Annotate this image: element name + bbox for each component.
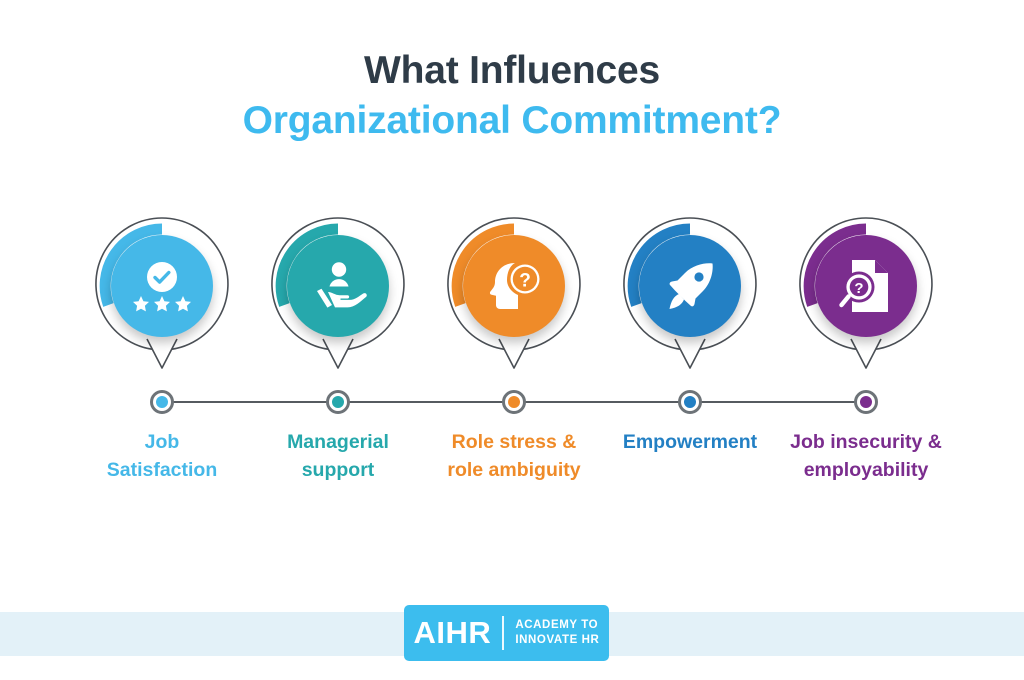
title-line-1: What Influences bbox=[0, 46, 1024, 96]
aihr-logo[interactable]: AIHR ACADEMY TO INNOVATE HR bbox=[404, 605, 609, 661]
icon-disc[interactable] bbox=[639, 235, 741, 337]
node-label-line-1: Job insecurity & bbox=[764, 428, 968, 456]
logo-tagline-line-1: ACADEMY TO bbox=[515, 618, 599, 633]
node-job-insecurity[interactable]: ? Job insecurity & employability bbox=[778, 216, 954, 516]
timeline-dot[interactable] bbox=[502, 390, 526, 414]
hand-support-person-icon bbox=[308, 260, 368, 312]
timeline-dot[interactable] bbox=[326, 390, 350, 414]
node-label: Job Satisfaction bbox=[60, 428, 264, 485]
node-role-stress[interactable]: ? Role stress & role ambiguity bbox=[426, 216, 602, 516]
node-label-line-1: Job bbox=[60, 428, 264, 456]
document-magnifier-question-icon: ? bbox=[839, 258, 893, 314]
svg-text:?: ? bbox=[519, 271, 531, 292]
node-label-line-2: employability bbox=[764, 456, 968, 484]
node-job-satisfaction[interactable]: Job Satisfaction bbox=[74, 216, 250, 516]
timeline-dot[interactable] bbox=[150, 390, 174, 414]
page-title: What Influences Organizational Commitmen… bbox=[0, 46, 1024, 146]
node-label: Job insecurity & employability bbox=[764, 428, 968, 485]
node-label-line-1: Managerial bbox=[236, 428, 440, 456]
node-label-line-1: Role stress & bbox=[412, 428, 616, 456]
logo-tagline: ACADEMY TO INNOVATE HR bbox=[504, 618, 599, 647]
title-line-2: Organizational Commitment? bbox=[0, 96, 1024, 146]
node-label-line-1: Empowerment bbox=[588, 428, 792, 456]
icon-disc[interactable]: ? bbox=[815, 235, 917, 337]
node-label-line-2: role ambiguity bbox=[412, 456, 616, 484]
node-managerial-support[interactable]: Managerial support bbox=[250, 216, 426, 516]
timeline-dot[interactable] bbox=[678, 390, 702, 414]
node-label-line-2: Satisfaction bbox=[60, 456, 264, 484]
influences-diagram: Job Satisfaction bbox=[0, 216, 1024, 516]
logo-divider bbox=[502, 616, 504, 650]
node-label: Empowerment bbox=[588, 428, 792, 456]
node-label-line-2: support bbox=[236, 456, 440, 484]
logo-wordmark: AIHR bbox=[414, 615, 503, 651]
rocket-icon bbox=[663, 259, 717, 313]
svg-text:?: ? bbox=[854, 280, 863, 297]
icon-disc[interactable] bbox=[287, 235, 389, 337]
node-empowerment[interactable]: Empowerment bbox=[602, 216, 778, 516]
timeline-dot[interactable] bbox=[854, 390, 878, 414]
icon-disc[interactable] bbox=[111, 235, 213, 337]
logo-tagline-line-2: INNOVATE HR bbox=[515, 633, 599, 648]
node-label: Managerial support bbox=[236, 428, 440, 485]
check-stars-icon bbox=[131, 260, 193, 312]
node-label: Role stress & role ambiguity bbox=[412, 428, 616, 485]
head-question-icon: ? bbox=[485, 259, 543, 313]
icon-disc[interactable]: ? bbox=[463, 235, 565, 337]
